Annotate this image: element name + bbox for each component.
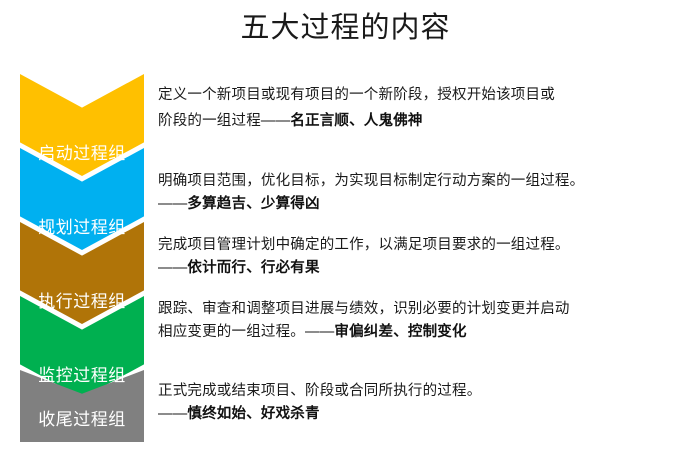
description-line-emphasis: 名正言顺、人鬼佛神 [290,113,422,129]
description-line-emphasis: 依计而行、行必有果 [187,260,319,276]
process-group-label-initiating: 启动过程组 [38,144,126,176]
process-group-label-executing: 执行过程组 [38,292,126,324]
description-line: 正式完成或结束项目、阶段或合同所执行的过程。 [158,380,686,403]
description-line-emphasis: 慎终如始、好戏杀青 [187,406,319,422]
page-title: 五大过程的内容 [0,8,691,48]
description-line: 跟踪、审查和调整项目进展与绩效，识别必要的计划变更并启动 [158,298,686,321]
description-line: 定义一个新项目或现有项目的一个新阶段，授权开始该项目或 [158,82,686,108]
process-group-chevron-initiating[interactable]: 启动过程组 [20,74,144,176]
description-line-plain: 相应变更的一组过程。—— [158,324,334,340]
description-line-emphasis: 多算趋吉、少算得凶 [187,196,319,212]
description-line-plain: —— [158,260,187,276]
description-initiating: 定义一个新项目或现有项目的一个新阶段，授权开始该项目或 阶段的一组过程——名正言… [158,82,686,134]
description-line-plain: —— [158,406,187,422]
description-closing: 正式完成或结束项目、阶段或合同所执行的过程。 ——慎终如始、好戏杀青 [158,380,686,426]
description-monitoring: 跟踪、审查和调整项目进展与绩效，识别必要的计划变更并启动 相应变更的一组过程。—… [158,298,686,344]
description-line: ——多算趋吉、少算得凶 [158,193,686,216]
description-line: 明确项目范围，优化目标，为实现目标制定行动方案的一组过程。 [158,170,686,193]
process-group-chevron-column: 启动过程组 规划过程组 执行过程组 监控过程组 收尾过程组 [20,74,144,442]
description-line: 完成项目管理计划中确定的工作，以满足项目要求的一组过程。 [158,234,686,257]
description-line: 相应变更的一组过程。——审偏纠差、控制变化 [158,321,686,344]
description-line: 阶段的一组过程——名正言顺、人鬼佛神 [158,108,686,134]
description-line: ——慎终如始、好戏杀青 [158,403,686,426]
description-line-plain: —— [158,196,187,212]
description-planning: 明确项目范围，优化目标，为实现目标制定行动方案的一组过程。 ——多算趋吉、少算得… [158,170,686,216]
description-line-plain: 阶段的一组过程—— [158,113,290,129]
description-line-emphasis: 审偏纠差、控制变化 [334,324,466,340]
process-group-label-closing: 收尾过程组 [38,410,126,442]
description-executing: 完成项目管理计划中确定的工作，以满足项目要求的一组过程。 ——依计而行、行必有果 [158,234,686,280]
description-line: ——依计而行、行必有果 [158,257,686,280]
process-group-label-monitoring: 监控过程组 [38,366,126,398]
process-group-label-planning: 规划过程组 [38,218,126,250]
slide-canvas: 五大过程的内容 启动过程组 规划过程组 执行过程组 监控过程组 收尾过程组 定义… [0,0,691,456]
